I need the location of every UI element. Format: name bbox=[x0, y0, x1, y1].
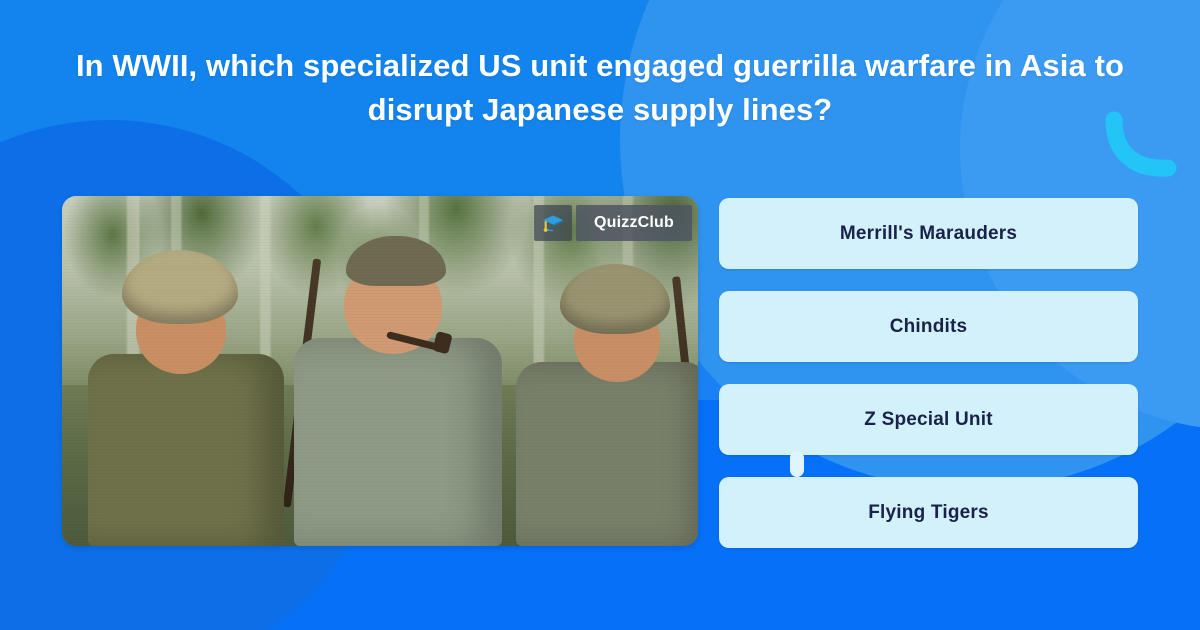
graduation-cap-icon bbox=[534, 205, 572, 241]
answer-option-3-label: Z Special Unit bbox=[864, 409, 992, 431]
photo-grain-overlay bbox=[62, 196, 698, 546]
answer-option-2[interactable]: Chindits bbox=[719, 291, 1138, 362]
answer-option-4[interactable]: Flying Tigers bbox=[719, 477, 1138, 548]
answer-connector-tab bbox=[790, 451, 804, 477]
quizzclub-watermark: QuizzClub bbox=[534, 205, 692, 241]
question-image: QuizzClub bbox=[62, 196, 698, 546]
answer-option-2-label: Chindits bbox=[890, 316, 968, 338]
answer-option-4-label: Flying Tigers bbox=[868, 502, 989, 524]
answer-option-1[interactable]: Merrill's Marauders bbox=[719, 198, 1138, 269]
answer-option-3[interactable]: Z Special Unit bbox=[719, 384, 1138, 455]
answer-option-1-label: Merrill's Marauders bbox=[840, 223, 1017, 245]
answer-list: Merrill's Marauders Chindits Z Special U… bbox=[719, 198, 1138, 548]
question-text: In WWII, which specialized US unit engag… bbox=[60, 44, 1140, 132]
quizzclub-brand-label: QuizzClub bbox=[576, 205, 692, 241]
